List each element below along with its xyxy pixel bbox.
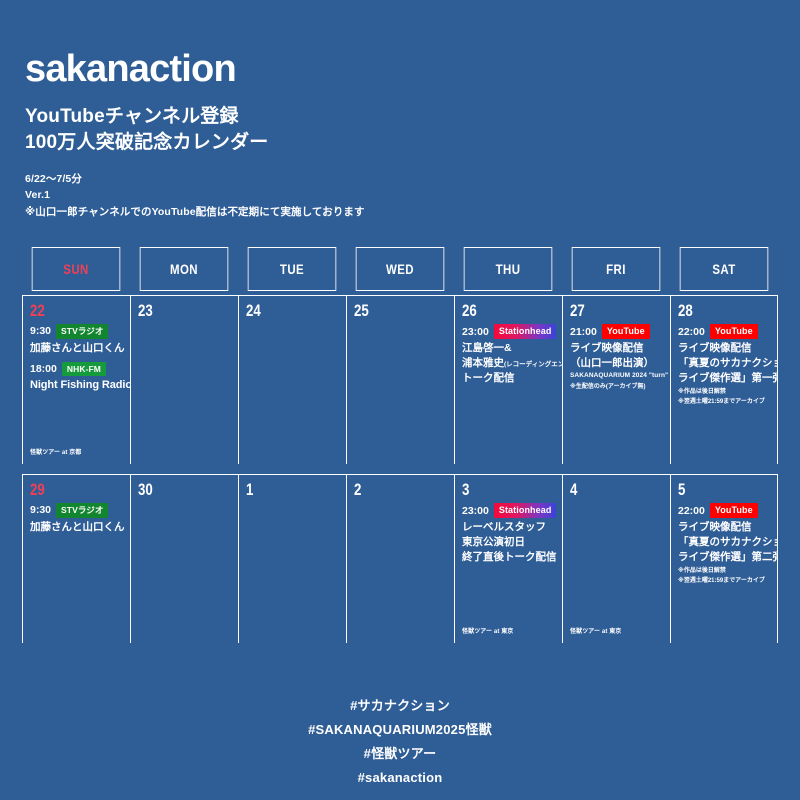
day-number: 1: [246, 481, 319, 498]
event-header: 22:00YouTube: [678, 324, 771, 339]
day-header-fri: FRI: [572, 247, 661, 291]
event-note: ※翌週土曜21:59までアーカイブ: [678, 576, 771, 586]
calendar-day-24[interactable]: 24: [238, 296, 346, 464]
day-header-tue: TUE: [248, 247, 337, 291]
calendar-day-22[interactable]: 229:30STVラジオ加藤さんと山口くん18:00NHK-FMNight Fi…: [22, 296, 130, 464]
event-person-role: (レコーディングエンジニア): [504, 361, 562, 368]
calendar-day-28[interactable]: 2822:00YouTubeライブ映像配信「真夏のサカナクションライブ傑作選」第…: [670, 296, 778, 464]
badge-youtube[interactable]: YouTube: [602, 324, 650, 339]
day-number: 26: [462, 302, 535, 319]
event-note: ※作品は後日解禁: [678, 387, 771, 397]
calendar-day-2[interactable]: 2: [346, 475, 454, 643]
event-time: 21:00: [570, 326, 597, 338]
day-number: 30: [138, 481, 211, 498]
calendar-page: sakanaction YouTubeチャンネル登録 100万人突破記念カレンダ…: [0, 0, 800, 800]
event-line: 加藤さんと山口くん: [30, 341, 124, 356]
calendar-day-25[interactable]: 25: [346, 296, 454, 464]
event-note: ※生配信のみ(アーカイブ無): [570, 382, 664, 392]
event-header: 23:00Stationhead: [462, 324, 556, 339]
day-number: 4: [570, 481, 643, 498]
event-header: 9:30STVラジオ: [30, 503, 124, 518]
event-time: 9:30: [30, 504, 51, 516]
meta-disclaimer: ※山口一郎チャンネルでのYouTube配信は不定期にて実施しております: [25, 204, 765, 220]
meta-version: Ver.1: [25, 187, 765, 203]
event-entry[interactable]: 9:30STVラジオ加藤さんと山口くん: [30, 324, 124, 356]
day-number: 29: [30, 481, 103, 498]
badge-youtube[interactable]: YouTube: [710, 324, 758, 339]
event-subtitle: SAKANAQUARIUM 2024 "turn": [570, 371, 664, 381]
day-of-week-header-row: SUNMONTUEWEDTHUFRISAT: [22, 247, 778, 291]
calendar-week: 229:30STVラジオ加藤さんと山口くん18:00NHK-FMNight Fi…: [22, 295, 778, 464]
event-line: Night Fishing Radio: [30, 378, 124, 394]
day-number: 3: [462, 481, 535, 498]
day-number: 5: [678, 481, 751, 498]
day-number: 22: [30, 302, 103, 319]
day-header-thu: THU: [464, 247, 553, 291]
event-entry[interactable]: 22:00YouTubeライブ映像配信「真夏のサカナクションライブ傑作選」第二弾…: [678, 503, 771, 586]
day-number: 27: [570, 302, 643, 319]
calendar-day-29[interactable]: 299:30STVラジオ加藤さんと山口くん: [22, 475, 130, 643]
event-entry[interactable]: 22:00YouTubeライブ映像配信「真夏のサカナクションライブ傑作選」第一弾…: [678, 324, 771, 407]
calendar-day-27[interactable]: 2721:00YouTubeライブ映像配信（山口一郎出演）SAKANAQUARI…: [562, 296, 670, 464]
calendar-day-3[interactable]: 323:00Stationheadレーベルスタッフ東京公演初日終了直後トーク配信…: [454, 475, 562, 643]
badge-stationhead[interactable]: Stationhead: [494, 324, 557, 339]
event-header: 9:30STVラジオ: [30, 324, 124, 339]
event-line: 加藤さんと山口くん: [30, 520, 124, 535]
event-time: 23:00: [462, 505, 489, 517]
event-line: 東京公演初日: [462, 535, 556, 550]
event-entry[interactable]: 23:00Stationheadレーベルスタッフ東京公演初日終了直後トーク配信: [462, 503, 556, 566]
day-number: 24: [246, 302, 319, 319]
hashtag[interactable]: #怪獣ツアー: [0, 742, 800, 766]
calendar-day-4[interactable]: 4怪獣ツアー at 東京: [562, 475, 670, 643]
event-line: ライブ傑作選」第一弾: [678, 371, 771, 386]
badge-stv[interactable]: STVラジオ: [56, 324, 108, 339]
hashtag[interactable]: #SAKANAQUARIUM2025怪獣: [0, 718, 800, 742]
event-entry[interactable]: 9:30STVラジオ加藤さんと山口くん: [30, 503, 124, 535]
event-line: レーベルスタッフ: [462, 520, 556, 535]
event-line: （山口一郎出演）: [570, 356, 664, 371]
day-number: 28: [678, 302, 751, 319]
event-line: トーク配信: [462, 371, 556, 386]
event-note: ※翌週土曜21:59までアーカイブ: [678, 397, 771, 407]
event-note: ※作品は後日解禁: [678, 566, 771, 576]
tour-note: 怪獣ツアー at 京都: [30, 447, 81, 456]
page-subtitle: YouTubeチャンネル登録 100万人突破記念カレンダー: [25, 104, 765, 155]
event-line: 「真夏のサカナクション: [678, 535, 771, 550]
calendar-day-5[interactable]: 522:00YouTubeライブ映像配信「真夏のサカナクションライブ傑作選」第二…: [670, 475, 778, 643]
event-line: 「真夏のサカナクション: [678, 356, 771, 371]
hashtag[interactable]: #sakanaction: [0, 766, 800, 790]
page-meta: 6/22〜7/5分 Ver.1 ※山口一郎チャンネルでのYouTube配信は不定…: [25, 171, 765, 220]
meta-date-range: 6/22〜7/5分: [25, 171, 765, 187]
event-line: ライブ映像配信: [678, 520, 771, 535]
badge-stv[interactable]: STVラジオ: [56, 503, 108, 518]
tour-note: 怪獣ツアー at 東京: [462, 626, 513, 635]
day-header-mon: MON: [140, 247, 229, 291]
day-header-sun: SUN: [32, 247, 121, 291]
badge-youtube[interactable]: YouTube: [710, 503, 758, 518]
calendar-week: 299:30STVラジオ加藤さんと山口くん3012323:00Stationhe…: [22, 474, 778, 643]
badge-nhk[interactable]: NHK-FM: [62, 362, 106, 377]
day-header-sat: SAT: [680, 247, 769, 291]
event-time: 23:00: [462, 326, 489, 338]
event-time: 22:00: [678, 326, 705, 338]
day-header-wed: WED: [356, 247, 445, 291]
day-number: 2: [354, 481, 427, 498]
footer-hashtags: #サカナクション#SAKANAQUARIUM2025怪獣#怪獣ツアー#sakan…: [0, 694, 800, 790]
event-time: 9:30: [30, 325, 51, 337]
event-header: 23:00Stationhead: [462, 503, 556, 518]
subtitle-line-1: YouTubeチャンネル登録: [25, 104, 765, 130]
tour-note: 怪獣ツアー at 東京: [570, 626, 621, 635]
calendar-day-23[interactable]: 23: [130, 296, 238, 464]
event-line: 終了直後トーク配信: [462, 550, 556, 565]
hashtag[interactable]: #サカナクション: [0, 694, 800, 718]
page-header: sakanaction YouTubeチャンネル登録 100万人突破記念カレンダ…: [25, 50, 765, 220]
event-time: 22:00: [678, 505, 705, 517]
event-time: 18:00: [30, 363, 57, 375]
event-header: 22:00YouTube: [678, 503, 771, 518]
subtitle-line-2: 100万人突破記念カレンダー: [25, 130, 765, 156]
event-header: 18:00NHK-FM: [30, 362, 124, 377]
event-line: ライブ映像配信: [678, 341, 771, 356]
day-number: 23: [138, 302, 211, 319]
event-person-name: 浦本雅史: [462, 357, 504, 369]
calendar-day-26[interactable]: 2623:00Stationhead江島啓一&浦本雅史(レコーディングエンジニア…: [454, 296, 562, 464]
event-entry[interactable]: 23:00Stationhead江島啓一&浦本雅史(レコーディングエンジニア)ト…: [462, 324, 556, 387]
calendar-day-1[interactable]: 1: [238, 475, 346, 643]
calendar-weeks: 229:30STVラジオ加藤さんと山口くん18:00NHK-FMNight Fi…: [22, 295, 778, 643]
event-entry[interactable]: 21:00YouTubeライブ映像配信（山口一郎出演）SAKANAQUARIUM…: [570, 324, 664, 392]
event-line: ライブ映像配信: [570, 341, 664, 356]
calendar-day-30[interactable]: 30: [130, 475, 238, 643]
event-entry[interactable]: 18:00NHK-FMNight Fishing Radio: [30, 362, 124, 394]
calendar-grid: SUNMONTUEWEDTHUFRISAT 229:30STVラジオ加藤さんと山…: [22, 247, 778, 653]
event-line: 江島啓一&: [462, 341, 556, 356]
brand-title: sakanaction: [25, 50, 765, 90]
event-line: ライブ傑作選」第二弾: [678, 550, 771, 565]
badge-stationhead[interactable]: Stationhead: [494, 503, 557, 518]
event-line-mixed: 浦本雅史(レコーディングエンジニア): [462, 356, 556, 371]
day-number: 25: [354, 302, 427, 319]
event-header: 21:00YouTube: [570, 324, 664, 339]
